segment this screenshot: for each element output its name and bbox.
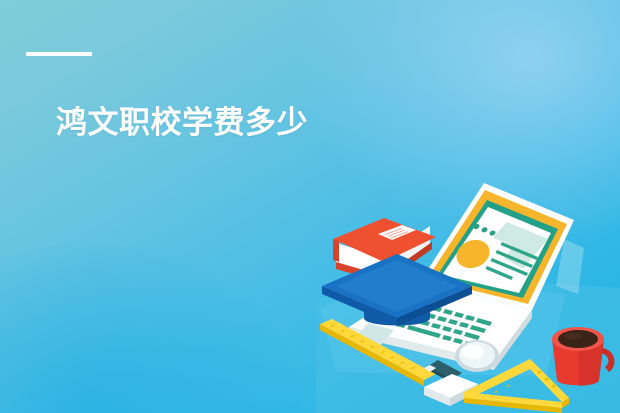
title-accent-rule bbox=[26, 52, 92, 56]
page-title: 鸿文职校学费多少 bbox=[56, 104, 308, 142]
promo-banner: 鸿文职校学费多少 bbox=[0, 0, 620, 413]
study-desk-illustration bbox=[316, 176, 620, 413]
background-glow-bottom-left bbox=[0, 243, 300, 413]
